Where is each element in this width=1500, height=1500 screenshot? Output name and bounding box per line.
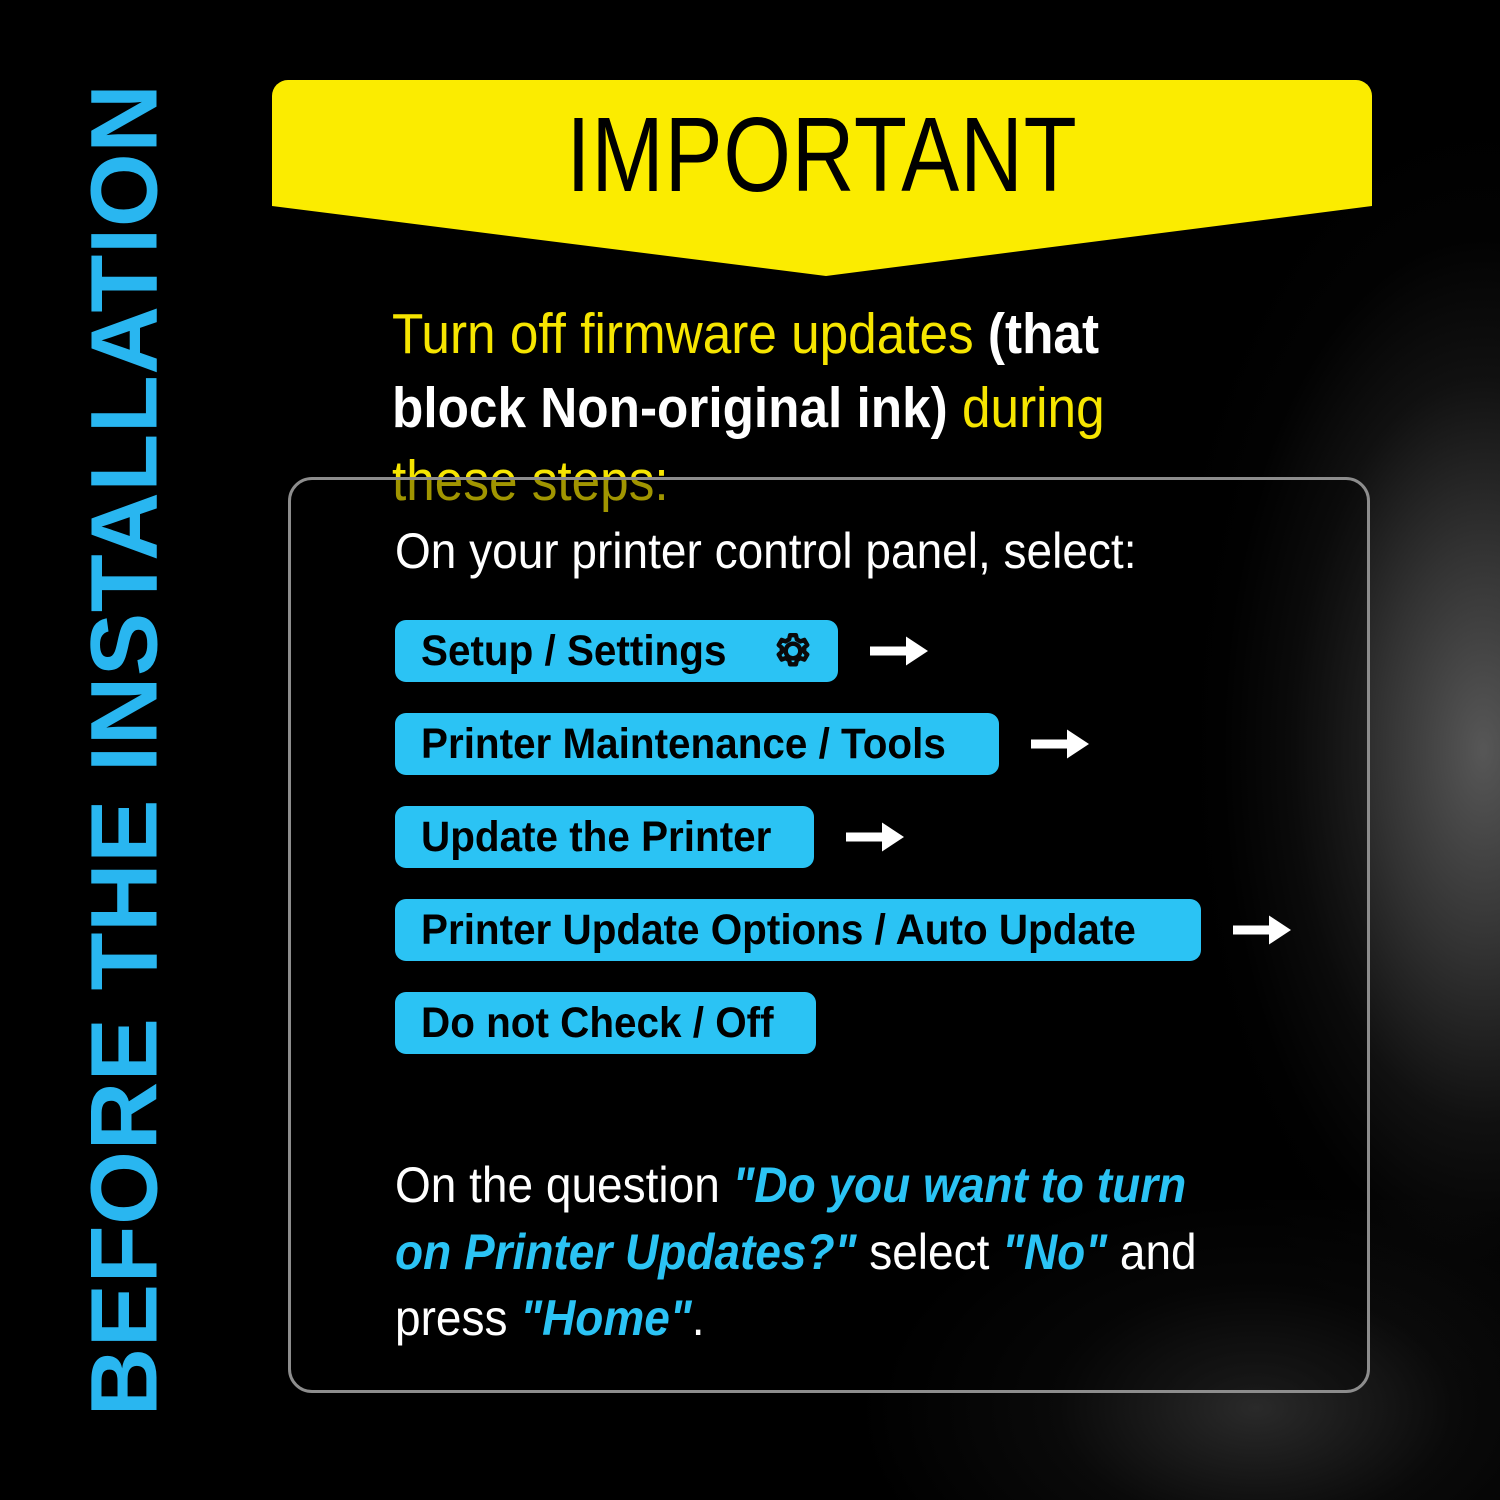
step-row-2: Printer Maintenance / Tools: [395, 713, 1335, 775]
step-row-1: Setup / Settings: [395, 620, 1335, 682]
headline-part-1: Turn off firmware updates: [392, 302, 988, 366]
closing-quote-no: "No": [1002, 1224, 1107, 1280]
step-button-setup-settings[interactable]: Setup / Settings: [395, 620, 838, 682]
step-button-update-the-printer[interactable]: Update the Printer: [395, 806, 814, 868]
step-button-label: Printer Maintenance / Tools: [421, 723, 946, 766]
closing-seg-7: .: [692, 1290, 705, 1346]
sidebar-vertical-title: BEFORE THE INSTALLATION: [78, 84, 173, 1417]
arrow-right-icon: [1231, 912, 1293, 948]
poster-root: BEFORE THE INSTALLATION IMPORTANT Turn o…: [0, 0, 1500, 1500]
step-row-3: Update the Printer: [395, 806, 1335, 868]
arrow-right-icon: [1029, 726, 1091, 762]
steps-panel: On your printer control panel, select: S…: [288, 477, 1370, 1393]
arrow-right-icon: [868, 633, 930, 669]
step-button-printer-update-options-auto-update[interactable]: Printer Update Options / Auto Update: [395, 899, 1201, 961]
step-button-label: Do not Check / Off: [421, 1002, 774, 1045]
step-button-label: Update the Printer: [421, 816, 771, 859]
steps-intro-text: On your printer control panel, select:: [395, 522, 1136, 580]
banner-title: IMPORTANT: [371, 100, 1273, 211]
closing-seg-3: select: [856, 1224, 1002, 1280]
step-button-do-not-check-off[interactable]: Do not Check / Off: [395, 992, 816, 1054]
gear-icon: [768, 626, 818, 676]
step-button-label: Setup / Settings: [421, 630, 726, 673]
arrow-right-icon: [844, 819, 906, 855]
step-button-printer-maintenance-tools[interactable]: Printer Maintenance / Tools: [395, 713, 999, 775]
closing-quote-home: "Home": [520, 1290, 691, 1346]
closing-seg-1: On the question: [395, 1157, 733, 1213]
step-row-4: Printer Update Options / Auto Update: [395, 899, 1335, 961]
step-button-label: Printer Update Options / Auto Update: [421, 909, 1136, 952]
step-row-5: Do not Check / Off: [395, 992, 1335, 1054]
steps-button-list: Setup / Settings Pr: [395, 620, 1335, 1085]
sidebar: BEFORE THE INSTALLATION: [0, 0, 250, 1500]
closing-paragraph: On the question "Do you want to turn on …: [395, 1152, 1223, 1352]
important-banner: IMPORTANT: [272, 80, 1372, 276]
